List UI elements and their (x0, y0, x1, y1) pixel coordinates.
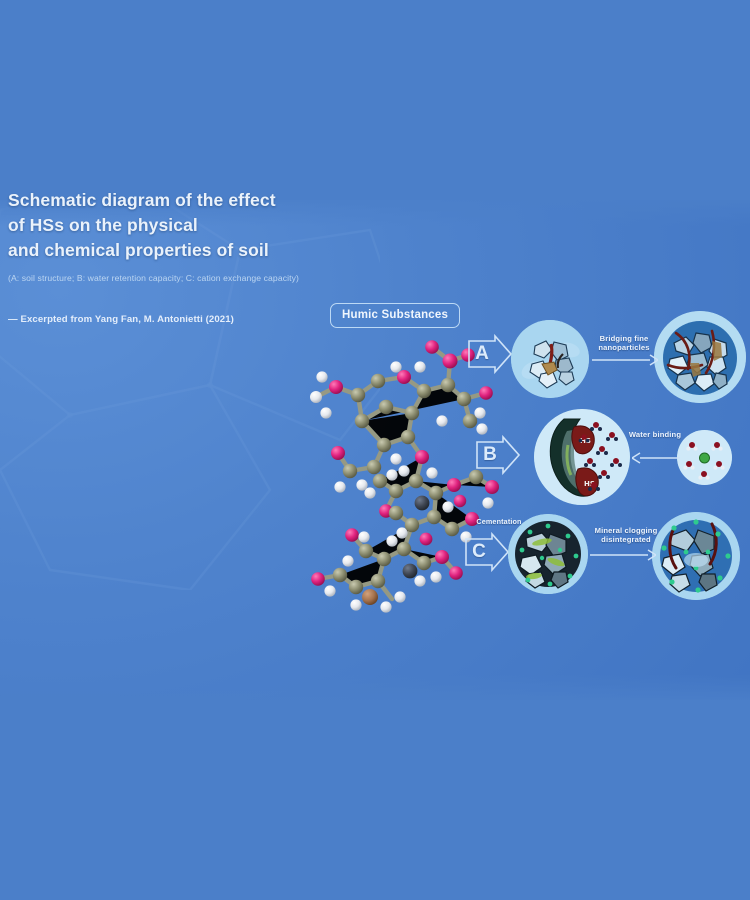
circle-dispersed-soil-nanoparticles (511, 320, 589, 398)
arrow-panel-b (632, 450, 680, 466)
label-cementation: Cementation (468, 517, 530, 526)
arrow-panel-a (592, 352, 658, 368)
subtitle-legend: (A: soil structure; B: water retention c… (8, 272, 338, 284)
page-title: Schematic diagram of the effect of HSs o… (8, 188, 338, 263)
citation-line: — Excerpted from Yang Fan, M. Antonietti… (8, 314, 338, 325)
illustration-canvas: Schematic diagram of the effect of HSs o… (0, 0, 750, 900)
arrow-panel-c (590, 547, 656, 563)
caption-c-line-1: Mineral clogging (580, 526, 672, 535)
caption-a-line-1: Bridging fine (582, 334, 666, 343)
panel-marker-b: B (475, 434, 521, 476)
title-line-3: and chemical properties of soil (8, 238, 338, 263)
caption-c-line-2: disintegrated (580, 535, 672, 544)
circle-aggregated-soil-particles (654, 311, 746, 403)
panel-marker-c: C (464, 531, 510, 573)
caption-b-line-1: Water binding (624, 430, 686, 439)
title-line-2: of HSs on the physical (8, 213, 338, 238)
panel-marker-c-letter: C (464, 531, 494, 573)
band-bottom-fade (0, 674, 750, 700)
caption-panel-b: Water binding (624, 430, 686, 439)
caption-a-line-2: nanoparticles (582, 343, 666, 352)
circle-humic-coated-aggregate-with-water: HS HS (534, 409, 630, 505)
caption-panel-a: Bridging fine nanoparticles (582, 334, 666, 353)
panel-marker-b-letter: B (475, 434, 505, 476)
text-block: Schematic diagram of the effect of HSs o… (8, 188, 338, 325)
caption-panel-c: Mineral clogging disintegrated (580, 526, 672, 545)
panel-marker-a: A (467, 333, 513, 375)
title-line-1: Schematic diagram of the effect (8, 188, 338, 213)
panel-marker-a-letter: A (467, 333, 497, 375)
